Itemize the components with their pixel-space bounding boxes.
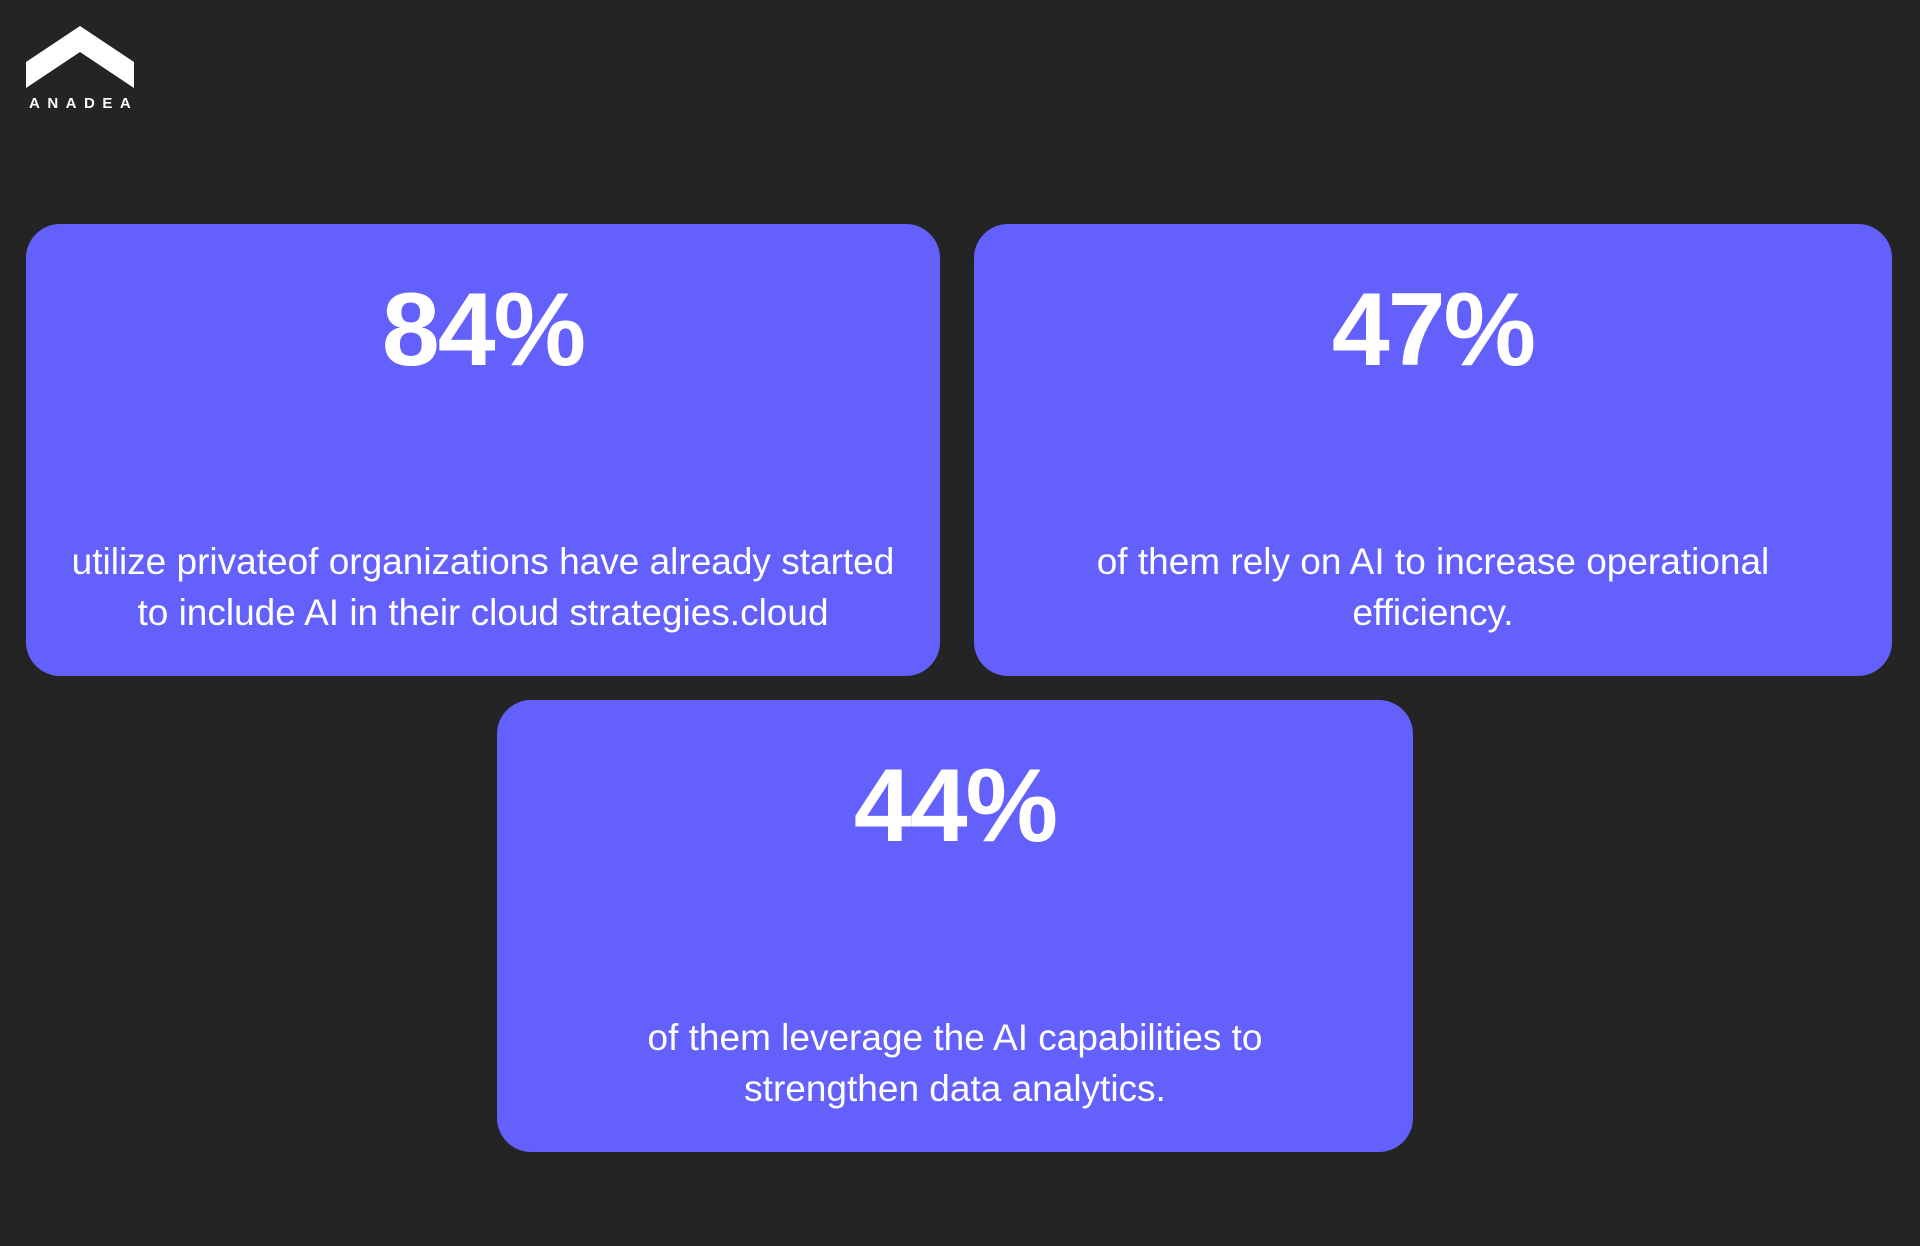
stat-value: 47% — [1002, 276, 1864, 385]
stat-card: 84% utilize privateof organizations have… — [26, 224, 940, 676]
stat-description: of them rely on AI to increase operation… — [1053, 536, 1813, 638]
stat-card: 47% of them rely on AI to increase opera… — [974, 224, 1892, 676]
stat-cards-container: 84% utilize privateof organizations have… — [0, 0, 1920, 1246]
stat-card: 44% of them leverage the AI capabilities… — [497, 700, 1413, 1152]
stat-value: 84% — [54, 276, 912, 385]
stat-description: utilize privateof organizations have alr… — [54, 536, 912, 638]
stat-value: 44% — [525, 752, 1385, 861]
stat-description: of them leverage the AI capabilities to … — [575, 1012, 1335, 1114]
